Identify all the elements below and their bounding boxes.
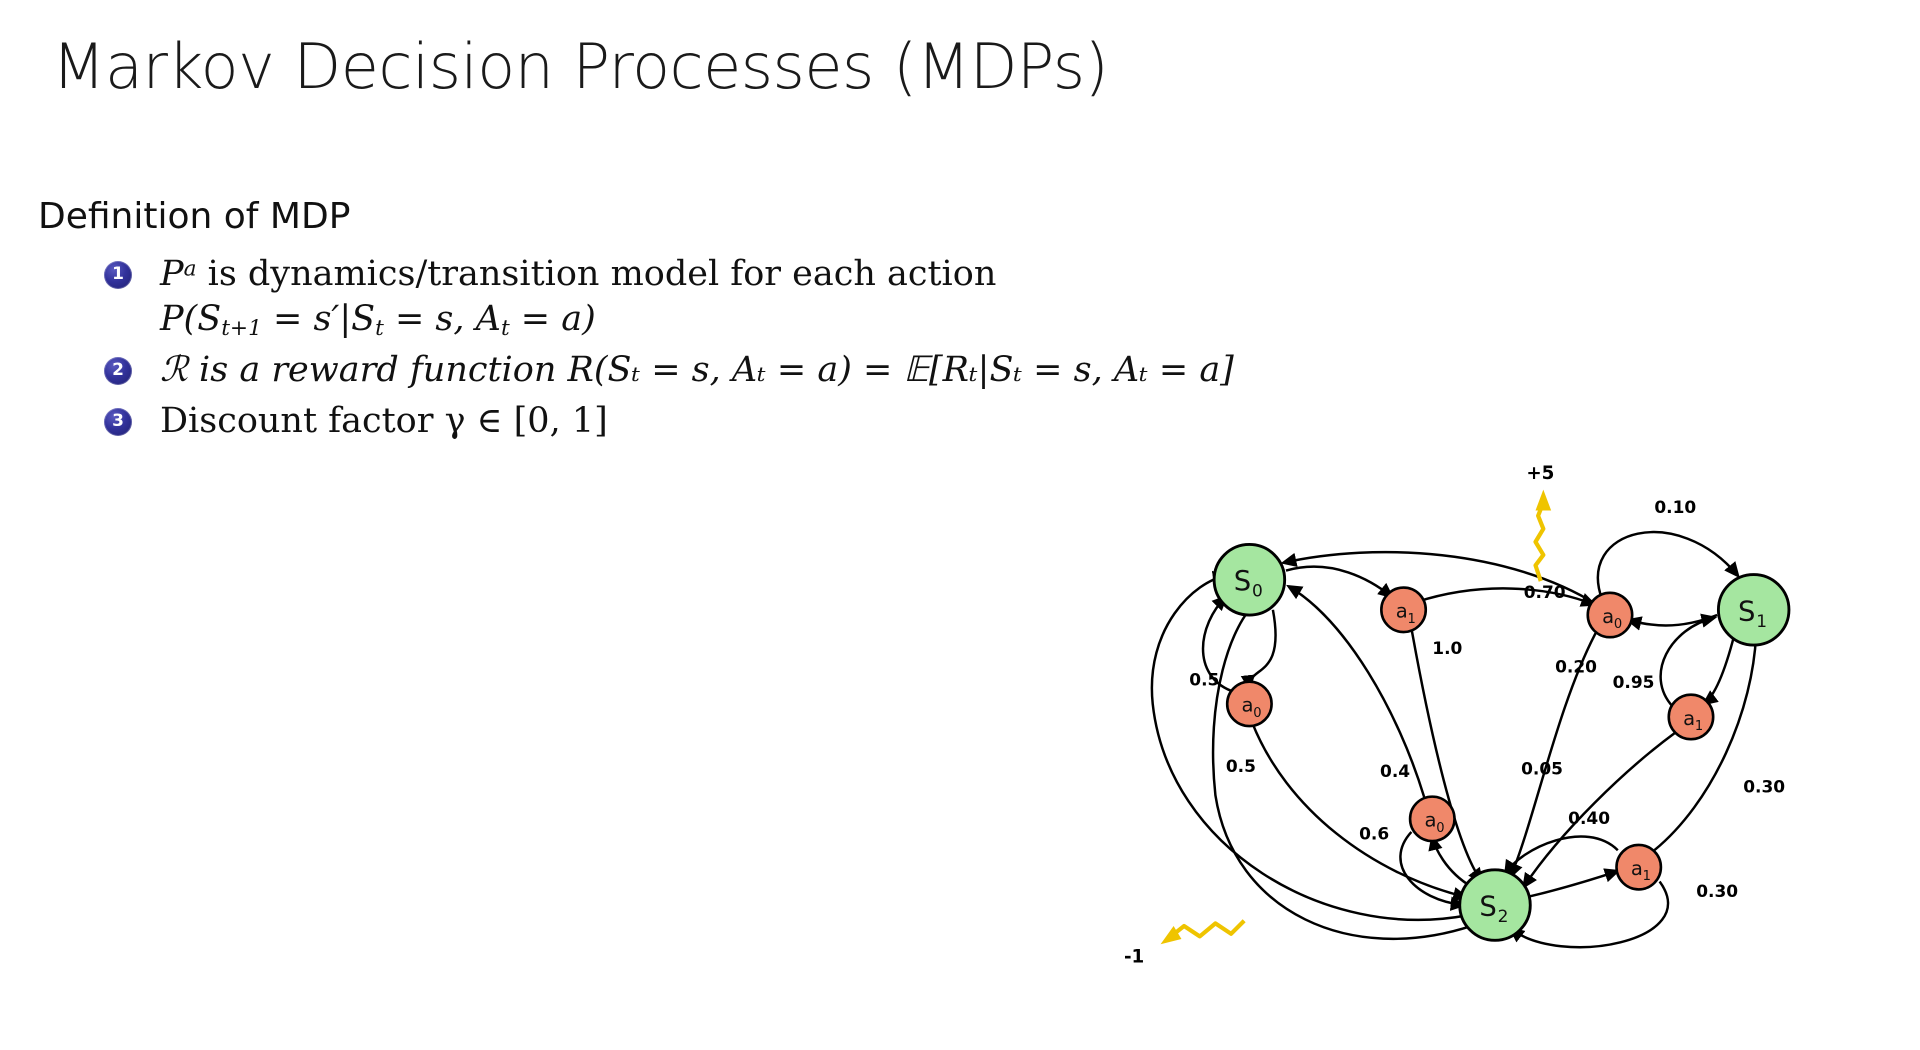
bullet-1-line-2: P(St+1 = s′|St = s, At = a) [160, 297, 1344, 343]
action-sub: 0 [1614, 617, 1622, 632]
edge-s1-to-a1 [1704, 631, 1735, 704]
symbol-P: P [160, 254, 184, 294]
edge-s0-to-a0 [1249, 610, 1275, 688]
formula-part-3: = s, A [384, 299, 501, 339]
bullet-marker-1: 1 [104, 261, 132, 289]
action-label: a [1683, 707, 1695, 730]
action-nodes: a 0 a 1 a 0 a 1 [1227, 588, 1713, 890]
edge-label: 0.5 [1226, 757, 1256, 777]
state-label: S [1738, 596, 1755, 627]
action-sub: 1 [1407, 612, 1415, 627]
reward-label-negative: -1 [1124, 947, 1144, 968]
action-label: a [1631, 857, 1643, 880]
action-node-s1-a0[interactable]: a 0 [1588, 593, 1632, 637]
formula-sub-3: t [501, 316, 510, 341]
superscript-a: a [184, 256, 197, 281]
formula-sub-2: t [375, 316, 384, 341]
section-heading: Definition of MDP [38, 196, 350, 237]
state-label: S [1234, 566, 1251, 597]
edge-label: 0.40 [1568, 809, 1610, 829]
action-sub: 0 [1253, 706, 1261, 721]
edge-a1-to-s2-10 [1411, 628, 1482, 881]
action-label: a [1242, 694, 1254, 717]
edge-label: 0.70 [1524, 583, 1566, 603]
edge-label: 1.0 [1432, 639, 1462, 659]
edge-s2-to-a0 [1432, 837, 1471, 887]
formula-part-2: = s′|S [262, 299, 375, 339]
list-item: 2 ℛ is a reward function R(Sₜ = s, Aₜ = … [104, 348, 1344, 393]
formula-part-4: = a) [510, 299, 596, 339]
bullet-marker-2: 2 [104, 357, 132, 385]
edge-label: 0.5 [1189, 671, 1219, 691]
action-sub: 1 [1695, 719, 1703, 734]
edge-a1-to-a0s1-070 [1417, 588, 1595, 604]
action-node-s2-a0[interactable]: a 0 [1410, 797, 1454, 841]
edge-s2-to-a1 [1526, 871, 1617, 897]
action-label: a [1602, 605, 1614, 628]
edge-label: 0.10 [1654, 498, 1696, 518]
edge-label: 0.4 [1380, 762, 1410, 782]
formula-part-1: P(S [160, 299, 221, 339]
edge-label: 0.6 [1359, 825, 1389, 845]
action-sub: 1 [1643, 869, 1651, 884]
bolt-arrow-up [1536, 490, 1552, 511]
edge-label: 0.05 [1521, 759, 1563, 779]
state-sub: 2 [1498, 907, 1509, 927]
action-node-s1-a1[interactable]: a 1 [1669, 695, 1713, 739]
action-node-s0-a1[interactable]: a 1 [1381, 588, 1425, 632]
mdp-transition-graph: 0.10 0.70 1.0 0.20 0.95 0.5 0.5 0.4 0.6 … [1090, 430, 1900, 1030]
reward-bolt-negative [1171, 921, 1244, 937]
bullet-2-text: ℛ is a reward function R(Sₜ = s, Aₜ = a)… [160, 348, 1344, 393]
edge-label: 0.20 [1555, 658, 1597, 678]
state-label: S [1479, 892, 1496, 923]
state-sub: 1 [1756, 612, 1767, 632]
action-sub: 0 [1436, 821, 1444, 836]
edge-label: 0.30 [1743, 778, 1785, 798]
state-node-s2[interactable]: S 2 [1460, 870, 1531, 941]
state-nodes: S 0 S 1 S 2 [1214, 544, 1789, 940]
state-node-s0[interactable]: S 0 [1214, 544, 1285, 615]
edge-s0-to-a1 [1286, 567, 1392, 597]
edge-label: 0.30 [1696, 882, 1738, 902]
action-label: a [1424, 809, 1436, 832]
action-label: a [1396, 600, 1408, 623]
edge-a1s2-to-s2-030 [1511, 882, 1668, 948]
state-sub: 0 [1252, 582, 1263, 602]
formula-sub-1: t+1 [221, 316, 262, 341]
edge-label: 0.95 [1613, 673, 1655, 693]
bullet-1-line-1: Pa is dynamics/transition model for each… [160, 252, 1344, 297]
state-node-s1[interactable]: S 1 [1718, 575, 1789, 646]
list-item: 1 Pa is dynamics/transition model for ea… [104, 252, 1344, 342]
edge-a1s2-to-s1-030 [1654, 631, 1756, 850]
action-node-s0-a0[interactable]: a 0 [1227, 682, 1271, 726]
reward-bolt-positive [1536, 503, 1544, 581]
edge-a0s1-to-s1-010 [1598, 532, 1738, 599]
bullet-1-text: is dynamics/transition model for each ac… [197, 254, 997, 294]
page-title: Markov Decision Processes (MDPs) [52, 34, 1108, 99]
edge-a1s1-to-s1-095 [1661, 618, 1715, 707]
reward-label-positive: +5 [1526, 463, 1554, 484]
action-node-s2-a1[interactable]: a 1 [1617, 845, 1661, 889]
slide-canvas: Markov Decision Processes (MDPs) Definit… [0, 0, 1920, 1050]
definition-list: 1 Pa is dynamics/transition model for ea… [104, 252, 1344, 450]
bullet-marker-3: 3 [104, 408, 132, 436]
